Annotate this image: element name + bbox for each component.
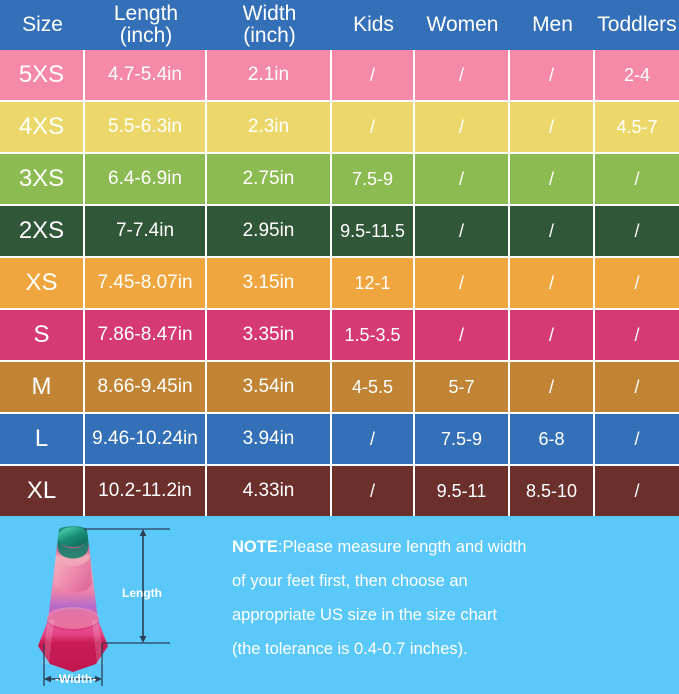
cell-kids: / xyxy=(332,414,415,466)
table-body: 5XS 4.7-5.4in 2.1in / / / 2-4 4XS 5.5-6.… xyxy=(0,50,679,516)
length-arrow-up xyxy=(140,529,147,536)
size-chart-page: Size Length (inch) Width (inch) Kids Wom… xyxy=(0,0,679,679)
column-header-length: Length (inch) xyxy=(85,0,207,50)
cell-toddlers: / xyxy=(595,310,679,362)
note-line-3: appropriate US size in the size chart xyxy=(232,598,662,632)
cell-length: 7.86-8.47in xyxy=(85,310,207,362)
cell-width: 3.54in xyxy=(207,362,332,414)
cell-size: XL xyxy=(0,466,85,516)
cell-men: / xyxy=(510,258,595,310)
table-row: 2XS 7-7.4in 2.95in 9.5-11.5 / / / xyxy=(0,206,679,258)
cell-women: / xyxy=(415,50,510,102)
cell-kids: 7.5-9 xyxy=(332,154,415,206)
cell-width: 3.15in xyxy=(207,258,332,310)
table-header: Size Length (inch) Width (inch) Kids Wom… xyxy=(0,0,679,50)
cell-toddlers: / xyxy=(595,466,679,516)
width-dimension-label: -Width- xyxy=(55,672,96,686)
cell-size: 3XS xyxy=(0,154,85,206)
note-line-1-text: Please measure length and width xyxy=(282,538,526,556)
cell-width: 3.94in xyxy=(207,414,332,466)
cell-width: 2.3in xyxy=(207,102,332,154)
cell-toddlers: / xyxy=(595,414,679,466)
note-line-2: of your feet first, then choose an xyxy=(232,564,662,598)
cell-men: / xyxy=(510,362,595,414)
fin-sole-highlight xyxy=(47,607,99,629)
table-row: S 7.86-8.47in 3.35in 1.5-3.5 / / / xyxy=(0,310,679,362)
cell-men: / xyxy=(510,206,595,258)
column-header-women: Women xyxy=(415,0,510,50)
cell-women: 7.5-9 xyxy=(415,414,510,466)
length-dimension-label: Length xyxy=(122,586,162,600)
cell-men: / xyxy=(510,102,595,154)
fin-tip xyxy=(58,527,88,547)
cell-men: 8.5-10 xyxy=(510,466,595,516)
cell-size: 2XS xyxy=(0,206,85,258)
cell-women: / xyxy=(415,102,510,154)
cell-toddlers: 2-4 xyxy=(595,50,679,102)
column-header-kids: Kids xyxy=(332,0,415,50)
cell-kids: 9.5-11.5 xyxy=(332,206,415,258)
table-row: L 9.46-10.24in 3.94in / 7.5-9 6-8 / xyxy=(0,414,679,466)
cell-kids: / xyxy=(332,102,415,154)
cell-size: M xyxy=(0,362,85,414)
cell-length: 7-7.4in xyxy=(85,206,207,258)
cell-women: / xyxy=(415,206,510,258)
cell-kids: 1.5-3.5 xyxy=(332,310,415,362)
cell-toddlers: 4.5-7 xyxy=(595,102,679,154)
note-line-1: NOTE:Please measure length and width xyxy=(232,530,662,564)
cell-width: 3.35in xyxy=(207,310,332,362)
width-arrow-left xyxy=(44,676,51,683)
cell-toddlers: / xyxy=(595,258,679,310)
cell-length: 6.4-6.9in xyxy=(85,154,207,206)
cell-women: / xyxy=(415,258,510,310)
cell-length: 7.45-8.07in xyxy=(85,258,207,310)
cell-toddlers: / xyxy=(595,206,679,258)
cell-length: 10.2-11.2in xyxy=(85,466,207,516)
cell-kids: / xyxy=(332,50,415,102)
cell-width: 2.95in xyxy=(207,206,332,258)
cell-men: / xyxy=(510,154,595,206)
cell-kids: / xyxy=(332,466,415,516)
cell-size: S xyxy=(0,310,85,362)
table-row: 5XS 4.7-5.4in 2.1in / / / 2-4 xyxy=(0,50,679,102)
table-row: XS 7.45-8.07in 3.15in 12-1 / / / xyxy=(0,258,679,310)
cell-women: / xyxy=(415,154,510,206)
column-header-toddlers: Toddlers xyxy=(595,0,679,50)
cell-size: XS xyxy=(0,258,85,310)
column-header-size: Size xyxy=(0,0,85,50)
cell-women: 9.5-11 xyxy=(415,466,510,516)
cell-toddlers: / xyxy=(595,154,679,206)
table-row: 4XS 5.5-6.3in 2.3in / / / 4.5-7 xyxy=(0,102,679,154)
cell-kids: 12-1 xyxy=(332,258,415,310)
cell-size: 5XS xyxy=(0,50,85,102)
cell-width: 2.75in xyxy=(207,154,332,206)
cell-width: 4.33in xyxy=(207,466,332,516)
cell-size: L xyxy=(0,414,85,466)
cell-width: 2.1in xyxy=(207,50,332,102)
swim-fin-icon xyxy=(22,524,222,692)
cell-length: 8.66-9.45in xyxy=(85,362,207,414)
swim-fin-illustration: Length -Width- xyxy=(22,524,222,692)
note-panel: Length -Width- NOTE:Please measure lengt… xyxy=(0,516,679,694)
table-row: M 8.66-9.45in 3.54in 4-5.5 5-7 / / xyxy=(0,362,679,414)
cell-men: 6-8 xyxy=(510,414,595,466)
column-header-men: Men xyxy=(510,0,595,50)
cell-length: 4.7-5.4in xyxy=(85,50,207,102)
cell-men: / xyxy=(510,310,595,362)
cell-men: / xyxy=(510,50,595,102)
cell-kids: 4-5.5 xyxy=(332,362,415,414)
cell-toddlers: / xyxy=(595,362,679,414)
cell-size: 4XS xyxy=(0,102,85,154)
note-label: NOTE xyxy=(232,538,278,556)
cell-length: 5.5-6.3in xyxy=(85,102,207,154)
header-row: Size Length (inch) Width (inch) Kids Wom… xyxy=(0,0,679,50)
table-row: 3XS 6.4-6.9in 2.75in 7.5-9 / / / xyxy=(0,154,679,206)
column-header-width: Width (inch) xyxy=(207,0,332,50)
cell-women: 5-7 xyxy=(415,362,510,414)
table-row: XL 10.2-11.2in 4.33in / 9.5-11 8.5-10 / xyxy=(0,466,679,516)
note-line-4: (the tolerance is 0.4-0.7 inches). xyxy=(232,632,662,666)
note-text-block: NOTE:Please measure length and width of … xyxy=(232,530,662,666)
cell-women: / xyxy=(415,310,510,362)
size-chart-table: Size Length (inch) Width (inch) Kids Wom… xyxy=(0,0,679,516)
length-arrow-down xyxy=(140,636,147,643)
cell-length: 9.46-10.24in xyxy=(85,414,207,466)
